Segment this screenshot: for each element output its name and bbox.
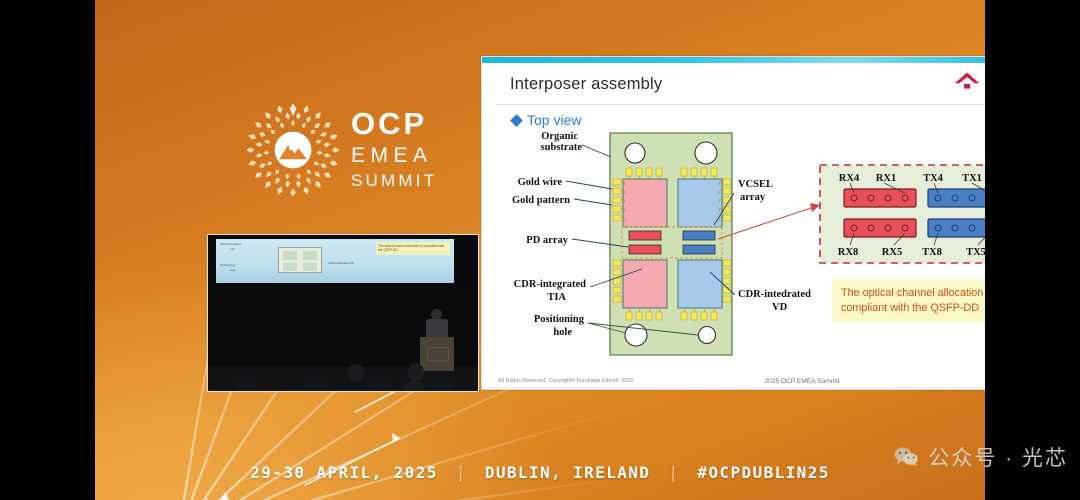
svg-text:TX5: TX5 [966,247,985,258]
wechat-watermark: 公众号 · 光芯 [893,442,1068,472]
letterbox-right [985,0,1080,500]
audience-head [408,363,424,381]
seat [430,379,452,392]
audience-head [348,364,364,381]
wechat-icon [893,446,919,468]
auditorium-scene [208,287,478,392]
svg-text:RX1: RX1 [876,173,896,184]
slide-title: Interposer assembly [510,75,662,94]
ocp-logo-wordmark: OCP EMEA SUMMIT [351,108,437,193]
event-backdrop: OCP EMEA SUMMIT CDR-integrated TIA Posit… [95,0,985,500]
svg-text:Positioning: Positioning [534,314,585,325]
mini-label-tia2: TIA [230,247,235,251]
speaker-video-thumbnail[interactable]: CDR-integrated TIA Positioning hole CDR-… [207,234,479,392]
banner-separator-1: | [456,463,467,482]
mini-callout-text: The optical channel allocation is compli… [376,242,450,255]
svg-text:TX4: TX4 [923,173,944,184]
ocp-logo-line1: OCP [351,108,437,139]
svg-text:CDR-integrated: CDR-integrated [514,279,586,290]
letterbox-left [0,0,95,500]
mini-callout: The optical channel allocation is compli… [376,242,450,255]
callout-line-1: The optical channel allocation is [841,286,985,301]
ocp-sunburst-mountain-emblem [247,104,339,196]
screenshot-stage: OCP EMEA SUMMIT CDR-integrated TIA Posit… [0,0,1080,500]
presentation-slide: Interposer assembly FURUKAWA ELECTRIC GR… [481,56,985,390]
seat [304,377,326,392]
svg-text:hole: hole [553,327,572,338]
section-heading-top-view: Top view [512,112,581,128]
svg-text:Gold pattern: Gold pattern [512,195,570,206]
svg-text:RX4: RX4 [839,173,860,184]
furukawa-logo: FURUKAWA ELECTRIC GROUP [954,71,985,90]
section-heading-label: Top view [527,112,581,128]
svg-text:array: array [740,192,766,203]
callout-line-2: compliant with the QSFP-DD [841,301,985,316]
watermark-text: 公众号 · 光芯 [928,442,1068,472]
slide-footer-event: 2025 OCP EMEA Summit [764,378,839,385]
svg-text:VD: VD [772,302,788,313]
slide-accent-bar [482,57,985,63]
seat [236,379,256,392]
seat [368,377,390,392]
svg-text:VCSEL: VCSEL [738,179,773,190]
event-banner: 29-30 APRIL, 2025 | DUBLIN, IRELAND | #O… [95,463,985,482]
svg-text:TIA: TIA [547,292,566,303]
ocp-emea-summit-logo: OCP EMEA SUMMIT [247,100,462,200]
mini-label-pos2: hole [230,268,236,272]
svg-text:Organic: Organic [541,131,578,142]
svg-text:Gold wire: Gold wire [518,177,563,188]
mini-label-vd: CDR-intedrated VD [328,261,354,265]
projected-slide-screen: CDR-integrated TIA Positioning hole CDR-… [216,239,454,283]
ocp-logo-line2: EMEA [351,145,437,166]
event-dates: 29-30 APRIL, 2025 [250,463,438,482]
banner-separator-2: | [668,463,679,482]
svg-text:RX5: RX5 [882,247,902,258]
svg-text:substrate: substrate [541,142,583,153]
speaker-figure [426,309,448,339]
slide-footer: All Rights Reserved. Copyright© Furukawa… [482,367,985,389]
diamond-bullet-icon [510,114,523,127]
svg-text:TX1: TX1 [962,173,982,184]
svg-text:CDR-intedrated: CDR-intedrated [738,289,811,300]
qsfp-dd-callout: The optical channel allocation is compli… [832,279,985,322]
mini-label-tia: CDR-integrated [220,242,241,246]
interposer-top-view-diagram: Organic substrate Gold wire Gold pattern… [482,127,985,367]
svg-text:PD array: PD array [526,235,568,246]
event-hashtag: #OCPDUBLIN25 [697,463,829,482]
furukawa-arch-icon [954,71,980,90]
mini-interposer-board [278,247,322,273]
event-location: DUBLIN, IRELAND [485,463,651,482]
mini-label-pos: Positioning [220,263,235,267]
podium [420,337,454,371]
audience-head [404,381,424,392]
svg-text:TX8: TX8 [922,247,942,258]
slide-header-divider [496,104,985,105]
slide-copyright: All Rights Reserved. Copyright© Furukawa… [498,378,633,384]
svg-text:RX8: RX8 [838,247,858,258]
ocp-logo-line3: SUMMIT [351,172,437,189]
